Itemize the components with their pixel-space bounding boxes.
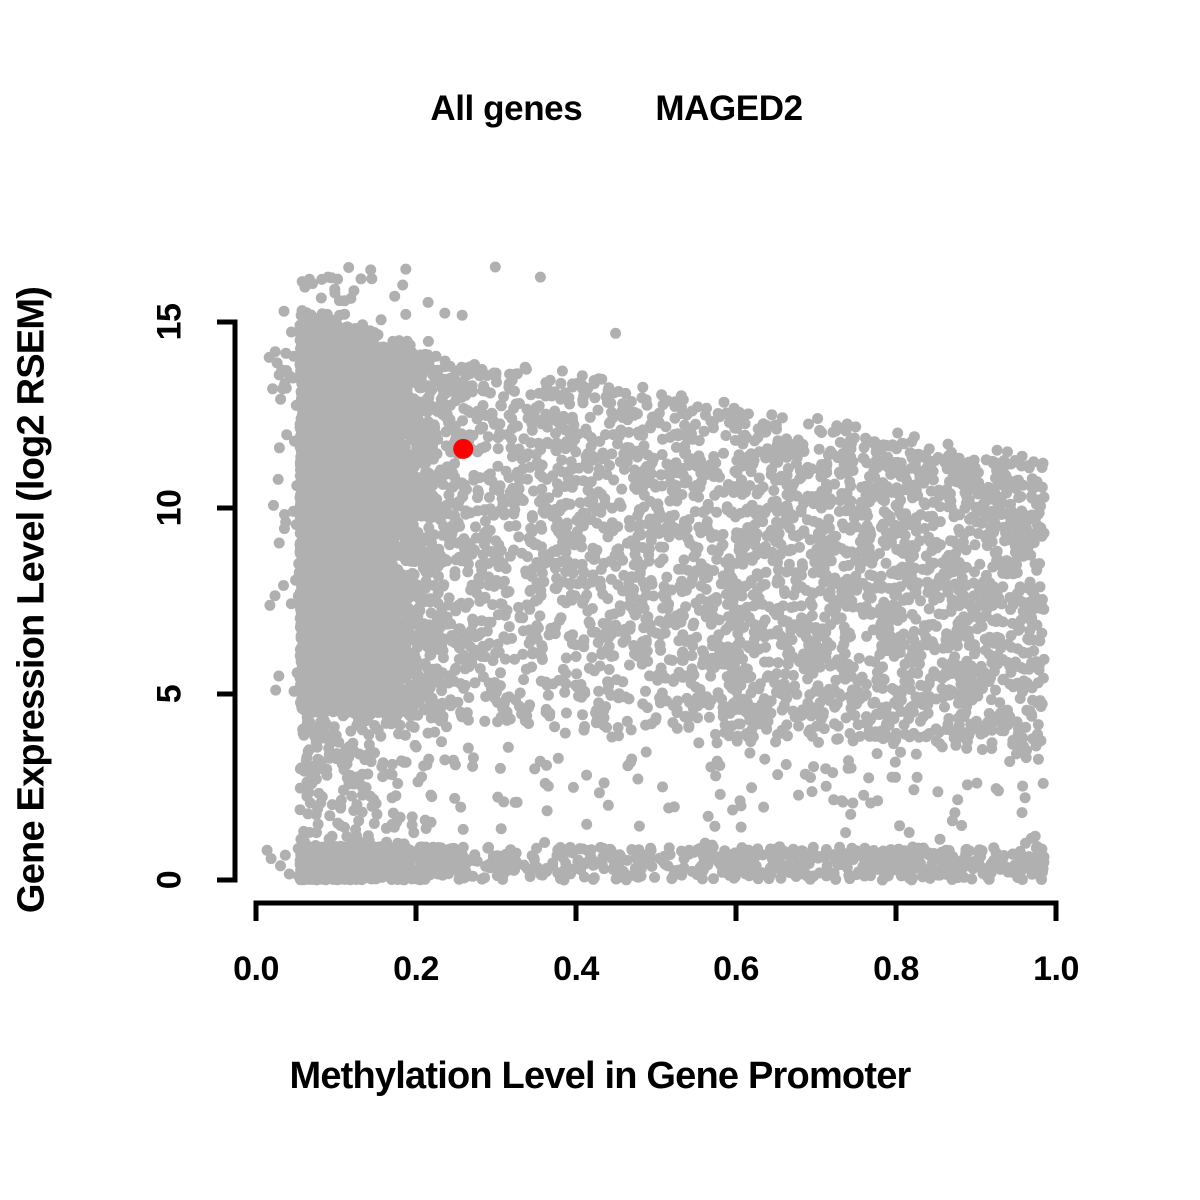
y-tick-label: 10 bbox=[151, 490, 190, 527]
x-axis-label: Methylation Level in Gene Promoter bbox=[0, 1055, 1200, 1098]
y-tick-label: 15 bbox=[151, 304, 190, 341]
y-tick-label: 5 bbox=[151, 685, 190, 703]
x-tick-label: 0.6 bbox=[713, 950, 759, 989]
x-tick-label: 0.0 bbox=[233, 950, 279, 989]
x-tick-label: 0.4 bbox=[553, 950, 599, 989]
y-axis-label: Gene Expression Level (log2 RSEM) bbox=[11, 287, 54, 913]
data-points-layer bbox=[262, 262, 1050, 886]
y-axis-label-wrap: Gene Expression Level (log2 RSEM) bbox=[0, 0, 64, 1200]
scatter-plot-figure: All genes MAGED2 0.00.20.40.60.81.0 0510… bbox=[0, 0, 1200, 1200]
highlight-point-layer bbox=[453, 439, 473, 459]
x-tick-label: 0.2 bbox=[393, 950, 439, 989]
plot-canvas bbox=[0, 0, 1200, 1200]
x-tick-label: 1.0 bbox=[1033, 950, 1079, 989]
y-tick-label: 0 bbox=[151, 871, 190, 889]
x-tick-label: 0.8 bbox=[873, 950, 919, 989]
